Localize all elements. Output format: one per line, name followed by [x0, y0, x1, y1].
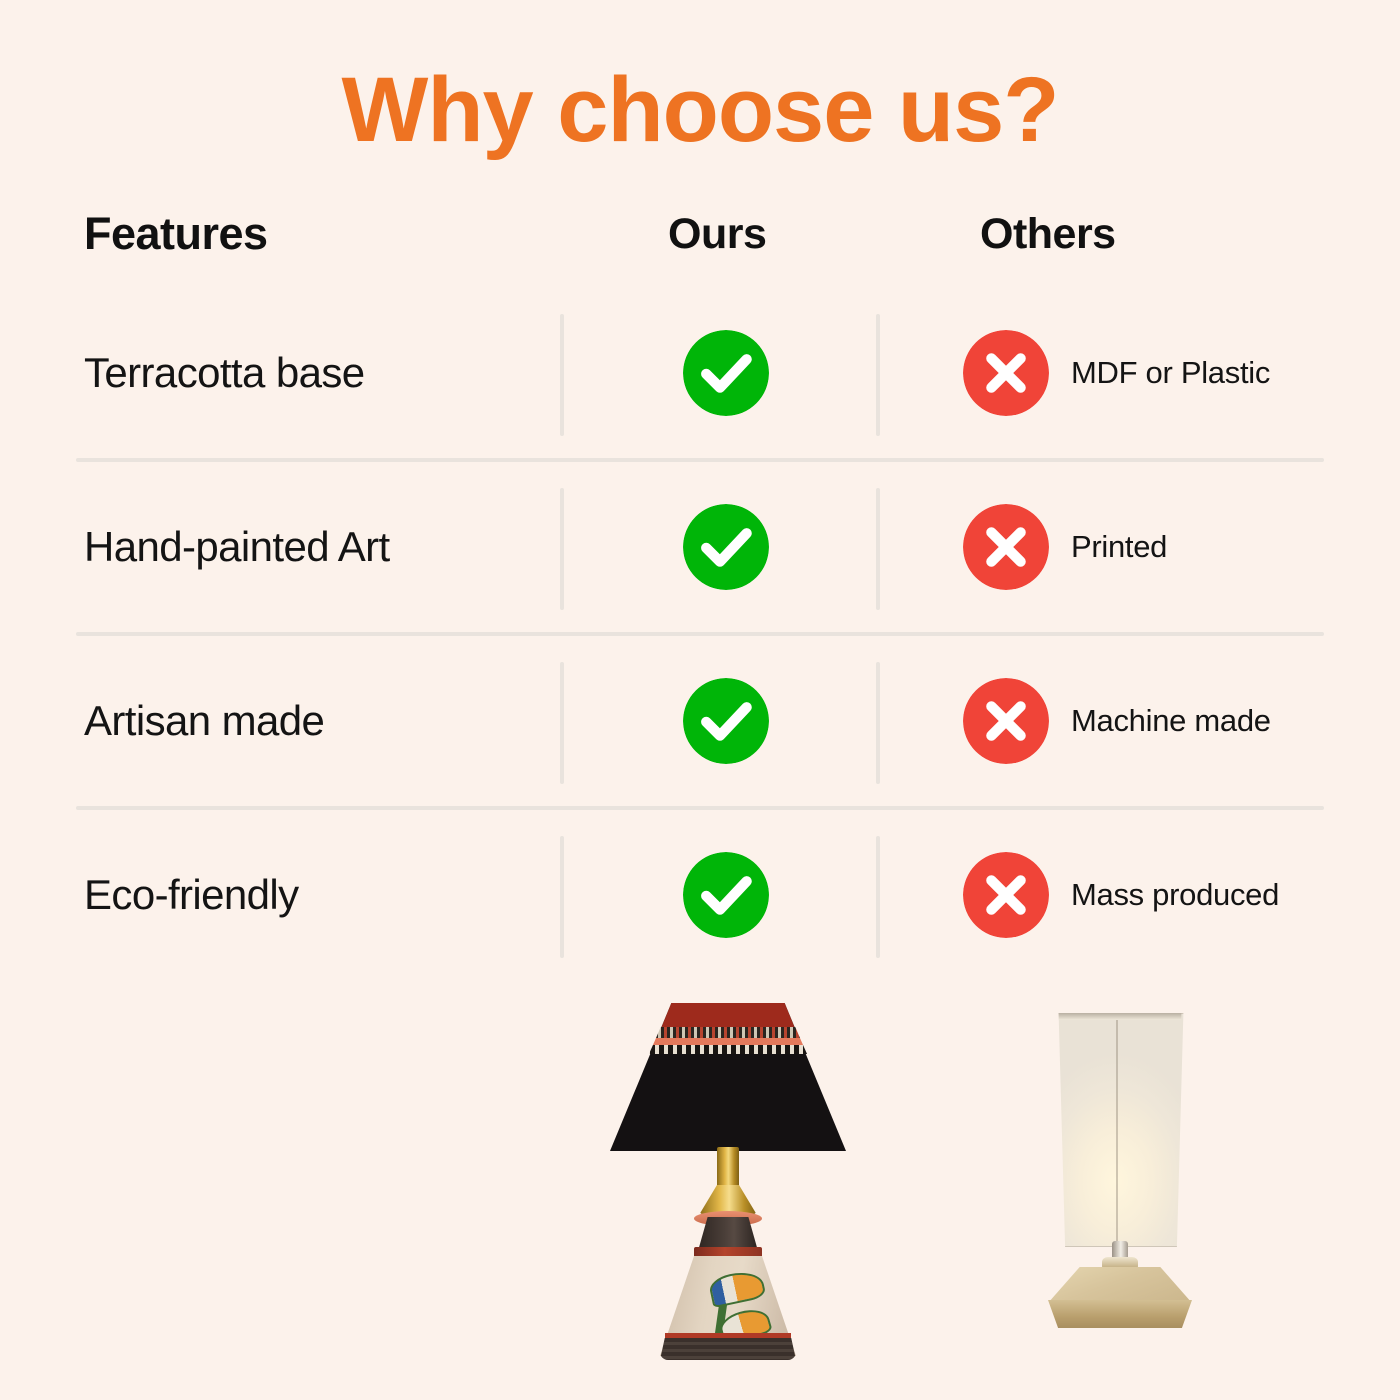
- check-circle-icon: [683, 852, 769, 938]
- column-divider: [876, 662, 880, 784]
- lamp-neck: [698, 1217, 758, 1251]
- feature-label: Terracotta base: [84, 349, 365, 397]
- column-header-features: Features: [84, 208, 268, 260]
- column-divider: [876, 836, 880, 958]
- others-cell: Mass produced: [963, 852, 1279, 938]
- ours-cell: [662, 330, 790, 416]
- table-header-row: Features Ours Others: [0, 196, 1400, 288]
- ours-cell: [662, 504, 790, 590]
- others-cell: Machine made: [963, 678, 1271, 764]
- x-circle-icon: [963, 678, 1049, 764]
- x-circle-icon: [963, 504, 1049, 590]
- table-row: Eco-friendly Mass produced: [0, 810, 1400, 980]
- plain-lamp-shade-rim: [1056, 1013, 1184, 1020]
- lamp-shade-pattern-band: [610, 1027, 846, 1038]
- table-row: Hand-painted Art Printed: [0, 462, 1400, 632]
- plain-lamp-shade: [1056, 1013, 1186, 1247]
- column-header-ours: Ours: [668, 210, 766, 259]
- table-row: Artisan made Machine made: [0, 636, 1400, 806]
- comparison-table: Features Ours Others Terracotta base: [0, 196, 1400, 980]
- plain-lamp-shade-edge: [1116, 1013, 1118, 1245]
- lamp-base-foot: [660, 1338, 796, 1360]
- others-product-image: [1030, 985, 1210, 1345]
- feature-label: Artisan made: [84, 697, 324, 745]
- others-value: Printed: [1071, 529, 1167, 565]
- check-circle-icon: [683, 330, 769, 416]
- feature-label: Eco-friendly: [84, 871, 299, 919]
- lamp-shade-dotted-band: [610, 1045, 846, 1054]
- others-cell: MDF or Plastic: [963, 330, 1270, 416]
- lamp-shade-accent-band: [610, 1038, 846, 1045]
- lamp-shade-top-band: [610, 1003, 846, 1029]
- others-value: Machine made: [1071, 703, 1271, 739]
- comparison-infographic: Why choose us? Features Ours Others Terr…: [0, 0, 1400, 1400]
- column-divider: [560, 662, 564, 784]
- x-circle-icon: [963, 330, 1049, 416]
- table-body: Terracotta base MDF or Plastic: [0, 288, 1400, 980]
- others-value: Mass produced: [1071, 877, 1279, 913]
- page-title: Why choose us?: [0, 62, 1400, 159]
- plain-lamp-wooden-base-front: [1048, 1300, 1192, 1328]
- column-divider: [560, 488, 564, 610]
- product-imagery: [0, 985, 1400, 1400]
- column-header-others: Others: [980, 210, 1116, 259]
- check-circle-icon: [683, 504, 769, 590]
- ours-cell: [662, 852, 790, 938]
- column-divider: [876, 488, 880, 610]
- others-value: MDF or Plastic: [1071, 355, 1270, 391]
- check-circle-icon: [683, 678, 769, 764]
- ours-product-image: [598, 985, 858, 1385]
- table-row: Terracotta base MDF or Plastic: [0, 288, 1400, 458]
- ours-cell: [662, 678, 790, 764]
- column-divider: [876, 314, 880, 436]
- column-divider: [560, 836, 564, 958]
- feature-label: Hand-painted Art: [84, 523, 390, 571]
- plain-lamp-wooden-base-top: [1048, 1267, 1192, 1303]
- others-cell: Printed: [963, 504, 1167, 590]
- column-divider: [560, 314, 564, 436]
- x-circle-icon: [963, 852, 1049, 938]
